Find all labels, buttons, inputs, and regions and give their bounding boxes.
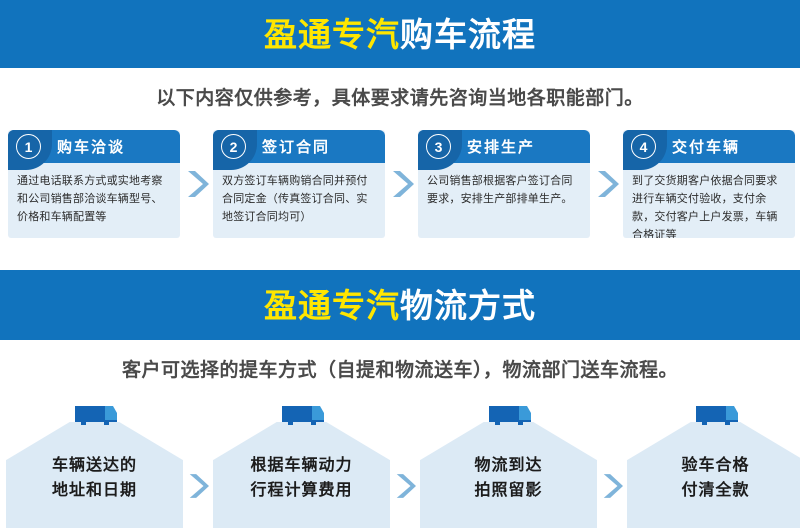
- logistics-banner-title: 盈通专汽物流方式: [264, 289, 536, 322]
- logistics-step-1[interactable]: 车辆送达的 地址和日期: [6, 402, 183, 528]
- step-title-4: 交付车辆: [672, 136, 740, 157]
- logistics-label-2-line1: 根据车辆动力: [213, 454, 390, 479]
- purchase-flow-banner: 盈通专汽购车流程: [0, 0, 800, 68]
- purchase-step-card-4[interactable]: 4 交付车辆 到了交货期客户依据合同要求进行车辆交付验收，支付余款，交付客户上户…: [623, 130, 795, 238]
- step-body-4: 到了交货期客户依据合同要求进行车辆交付验收，支付余款，交付客户上户发票，车辆合格…: [623, 163, 795, 238]
- logistics-steps-row: 车辆送达的 地址和日期 根据车辆动力 行程计算费用: [0, 402, 800, 528]
- logistics-label-1-line1: 车辆送达的: [6, 454, 183, 479]
- logistics-label-1-line2: 地址和日期: [6, 479, 183, 504]
- step-title-3: 安排生产: [467, 136, 535, 157]
- logistics-label-2: 根据车辆动力 行程计算费用: [213, 454, 390, 504]
- logistics-label-4-line1: 验车合格: [627, 454, 800, 479]
- purchase-step-header-2: 2 签订合同: [213, 130, 385, 163]
- step-body-1: 通过电话联系方式或实地考察和公司销售部洽谈车辆型号、价格和车辆配置等: [8, 163, 180, 226]
- logistics-label-1: 车辆送达的 地址和日期: [6, 454, 183, 504]
- truck-icon-2: [278, 402, 326, 428]
- purchase-step-header-1: 1 购车洽谈: [8, 130, 180, 163]
- purchase-step-header-3: 3 安排生产: [418, 130, 590, 163]
- logistics-banner-topic: 物流方式: [400, 287, 536, 324]
- logistics-label-4: 验车合格 付清全款: [627, 454, 800, 504]
- brand-name-logistics: 盈通专汽: [264, 287, 400, 324]
- step-body-3: 公司销售部根据客户签订合同要求，安排生产部排单生产。: [418, 163, 590, 208]
- logistics-banner: 盈通专汽物流方式: [0, 270, 800, 340]
- purchase-banner-title: 盈通专汽购车流程: [264, 18, 536, 51]
- purchase-steps-row: 1 购车洽谈 通过电话联系方式或实地考察和公司销售部洽谈车辆型号、价格和车辆配置…: [0, 130, 800, 248]
- chevron-right-icon-4: [183, 402, 213, 528]
- logistics-step-3[interactable]: 物流到达 拍照留影: [420, 402, 597, 528]
- purchase-subtitle: 以下内容仅供参考，具体要求请先咨询当地各职能部门。: [0, 68, 800, 130]
- step-number-badge-3: 3: [426, 134, 451, 159]
- logistics-step-2[interactable]: 根据车辆动力 行程计算费用: [213, 402, 390, 528]
- purchase-step-card-1[interactable]: 1 购车洽谈 通过电话联系方式或实地考察和公司销售部洽谈车辆型号、价格和车辆配置…: [8, 130, 180, 238]
- section-spacer: [0, 248, 800, 270]
- step-number-badge-2: 2: [221, 134, 246, 159]
- logistics-label-4-line2: 付清全款: [627, 479, 800, 504]
- truck-icon-3: [485, 402, 533, 428]
- truck-icon-1: [71, 402, 119, 428]
- chevron-right-icon-5: [390, 402, 420, 528]
- chevron-right-icon-1: [180, 130, 213, 238]
- purchase-step-card-2[interactable]: 2 签订合同 双方签订车辆购销合同并预付合同定金（传真签订合同、实地签订合同均可…: [213, 130, 385, 238]
- purchase-step-header-4: 4 交付车辆: [623, 130, 795, 163]
- logistics-step-4[interactable]: 验车合格 付清全款: [627, 402, 800, 528]
- purchase-banner-topic: 购车流程: [400, 16, 536, 53]
- chevron-right-icon-2: [385, 130, 418, 238]
- brand-name-purchase: 盈通专汽: [264, 16, 400, 53]
- logistics-label-2-line2: 行程计算费用: [213, 479, 390, 504]
- chevron-right-icon-6: [597, 402, 627, 528]
- logistics-label-3-line1: 物流到达: [420, 454, 597, 479]
- logistics-label-3: 物流到达 拍照留影: [420, 454, 597, 504]
- step-number-badge-4: 4: [631, 134, 656, 159]
- step-number-badge-1: 1: [16, 134, 41, 159]
- step-title-2: 签订合同: [262, 136, 330, 157]
- logistics-label-3-line2: 拍照留影: [420, 479, 597, 504]
- step-body-2: 双方签订车辆购销合同并预付合同定金（传真签订合同、实地签订合同均可）: [213, 163, 385, 226]
- truck-icon-4: [692, 402, 740, 428]
- chevron-right-icon-3: [590, 130, 623, 238]
- step-title-1: 购车洽谈: [57, 136, 125, 157]
- logistics-subtitle: 客户可选择的提车方式（自提和物流送车），物流部门送车流程。: [0, 340, 800, 402]
- purchase-step-card-3[interactable]: 3 安排生产 公司销售部根据客户签订合同要求，安排生产部排单生产。: [418, 130, 590, 238]
